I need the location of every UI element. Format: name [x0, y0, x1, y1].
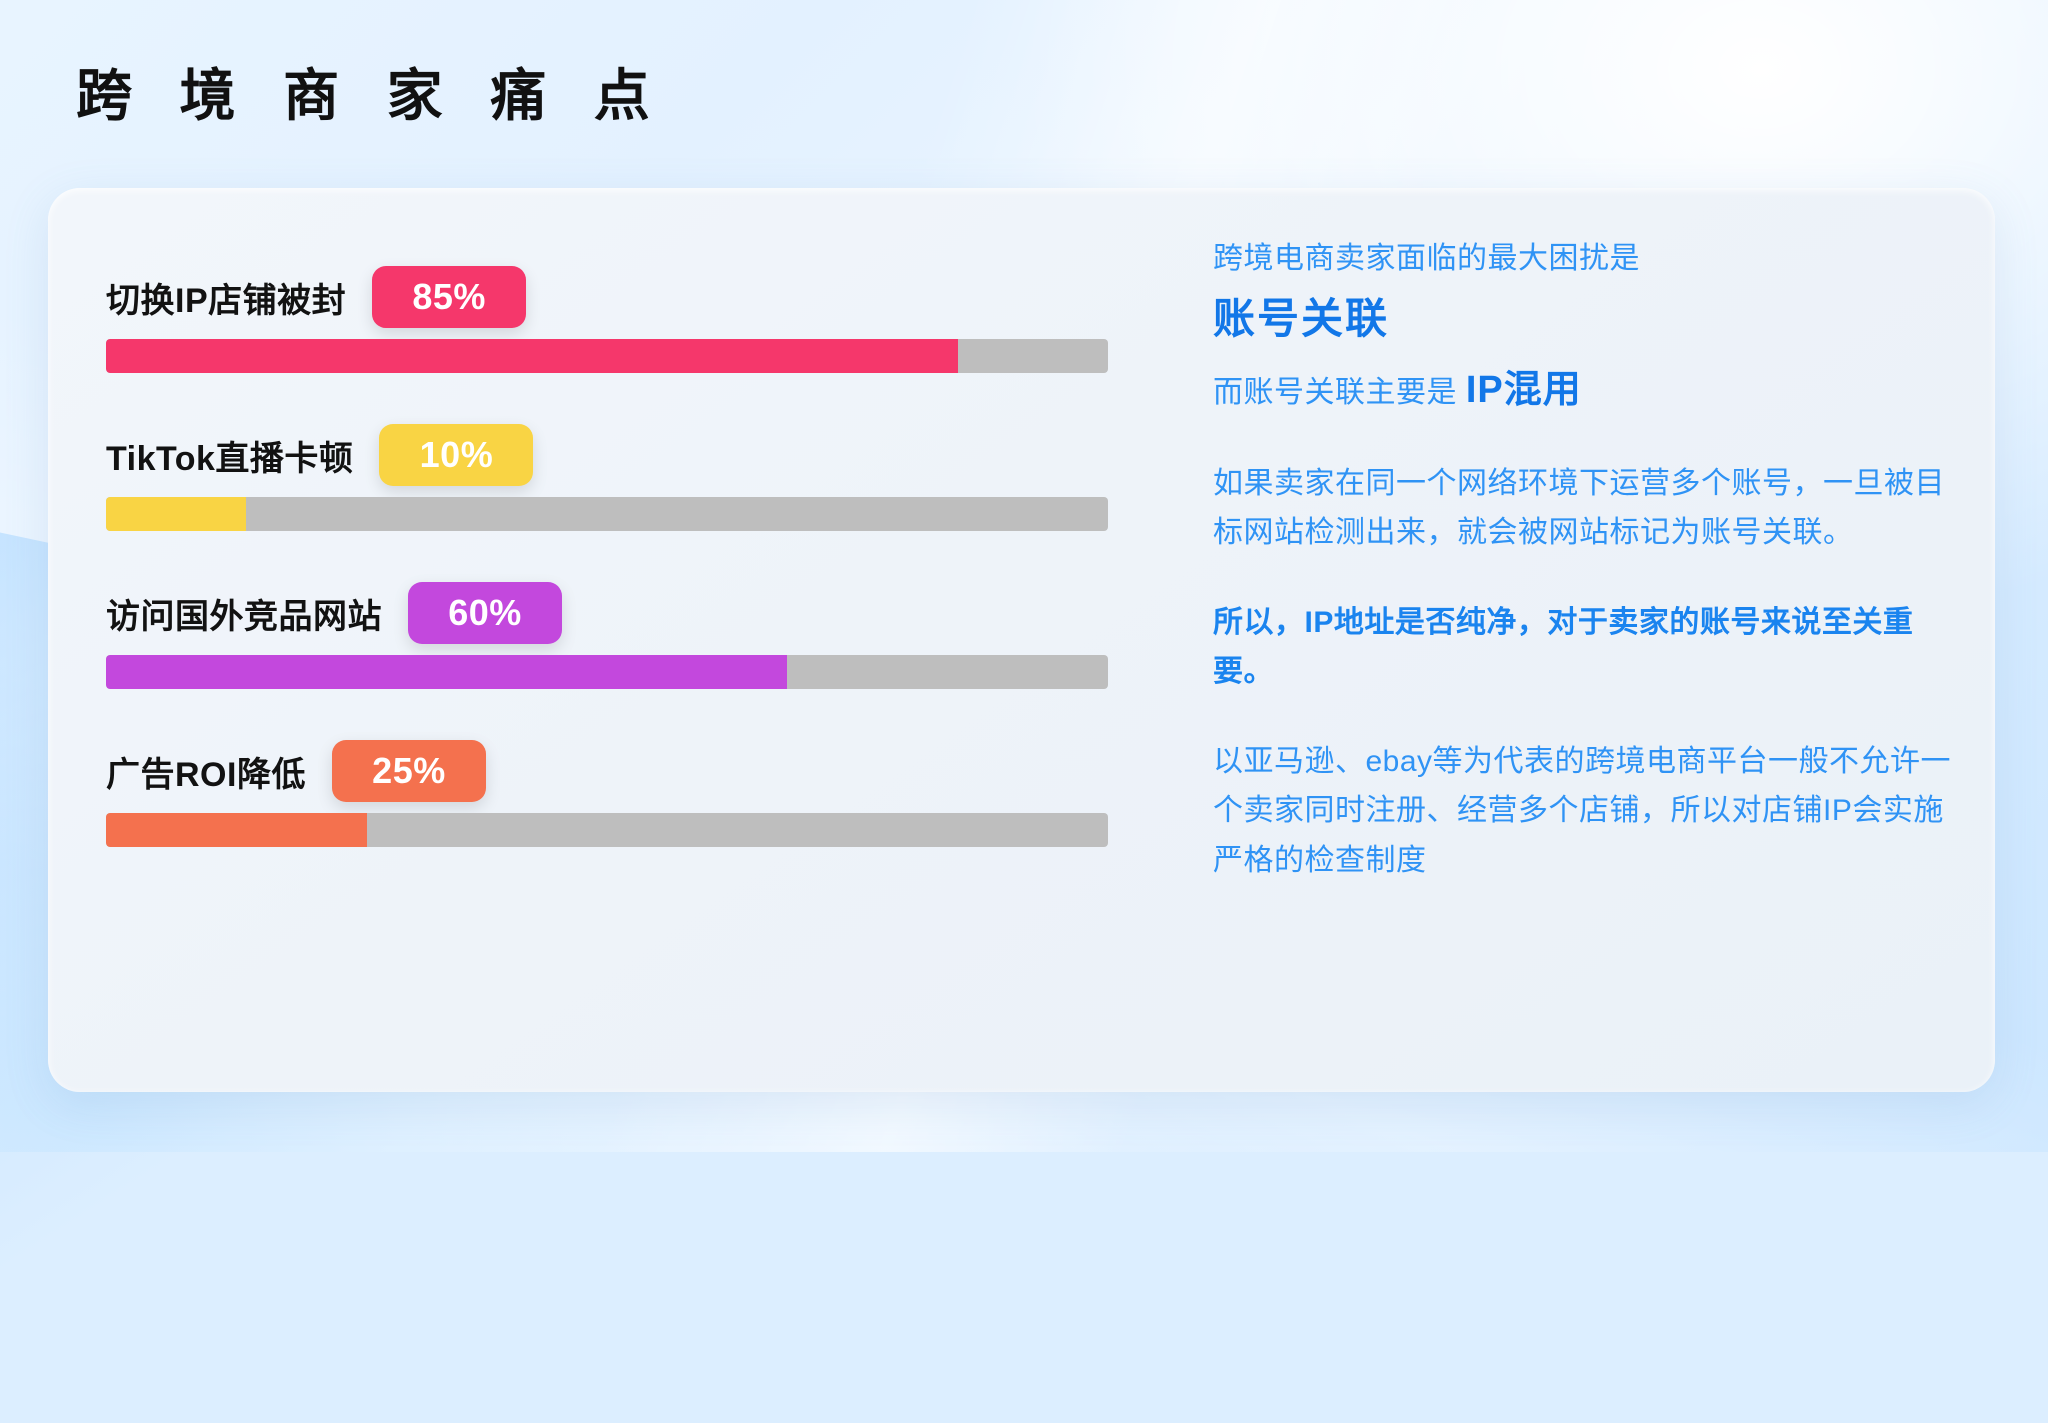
page-title: 跨 境 商 家 痛 点: [76, 68, 666, 124]
bar-value-badge: 85%: [372, 266, 526, 328]
subline-emphasis: IP混用: [1466, 369, 1582, 411]
bar-fill: [106, 497, 246, 531]
bar-fill: [106, 655, 787, 689]
paragraph-2: 所以，IP地址是否纯净，对于卖家的账号来说至关重要。: [1213, 598, 1953, 697]
bar-header: 访问国外竞品网站 60%: [106, 582, 1166, 644]
bar-label: TikTok直播卡顿: [106, 431, 353, 480]
paragraph-1: 如果卖家在同一个网络环境下运营多个账号，一旦被目标网站检测出来，就会被网站标记为…: [1213, 459, 1953, 558]
bar-value-badge: 10%: [379, 424, 533, 486]
bar-value-badge: 60%: [408, 582, 562, 644]
lead-text: 跨境电商卖家面临的最大困扰是: [1213, 236, 1953, 281]
bar-value-badge: 25%: [332, 740, 486, 802]
subline-prefix: 而账号关联主要是: [1213, 376, 1466, 409]
bar-row: 广告ROI降低 25%: [106, 740, 1166, 847]
headline-text: 账号关联: [1213, 291, 1953, 348]
bar-fill: [106, 339, 958, 373]
pain-point-bar-list: 切换IP店铺被封 85% TikTok直播卡顿 10% 访问国外竞品网站 60%: [106, 266, 1166, 847]
explanation-text-panel: 跨境电商卖家面临的最大困扰是 账号关联 而账号关联主要是 IP混用 如果卖家在同…: [1213, 236, 1953, 885]
bar-row: 访问国外竞品网站 60%: [106, 582, 1166, 689]
bar-header: 切换IP店铺被封 85%: [106, 266, 1166, 328]
bar-label: 访问国外竞品网站: [106, 589, 382, 638]
bar-header: 广告ROI降低 25%: [106, 740, 1166, 802]
bar-label: 切换IP店铺被封: [106, 273, 346, 322]
bar-row: TikTok直播卡顿 10%: [106, 424, 1166, 531]
content-card: 切换IP店铺被封 85% TikTok直播卡顿 10% 访问国外竞品网站 60%: [48, 188, 1995, 1092]
bar-track: [106, 339, 1108, 373]
bar-track: [106, 813, 1108, 847]
bar-row: 切换IP店铺被封 85%: [106, 266, 1166, 373]
bar-label: 广告ROI降低: [106, 747, 306, 796]
bar-track: [106, 655, 1108, 689]
bar-header: TikTok直播卡顿 10%: [106, 424, 1166, 486]
bar-fill: [106, 813, 367, 847]
subline-text: 而账号关联主要是 IP混用: [1213, 362, 1953, 419]
paragraph-3: 以亚马逊、ebay等为代表的跨境电商平台一般不允许一个卖家同时注册、经营多个店铺…: [1213, 737, 1953, 886]
bar-track: [106, 497, 1108, 531]
